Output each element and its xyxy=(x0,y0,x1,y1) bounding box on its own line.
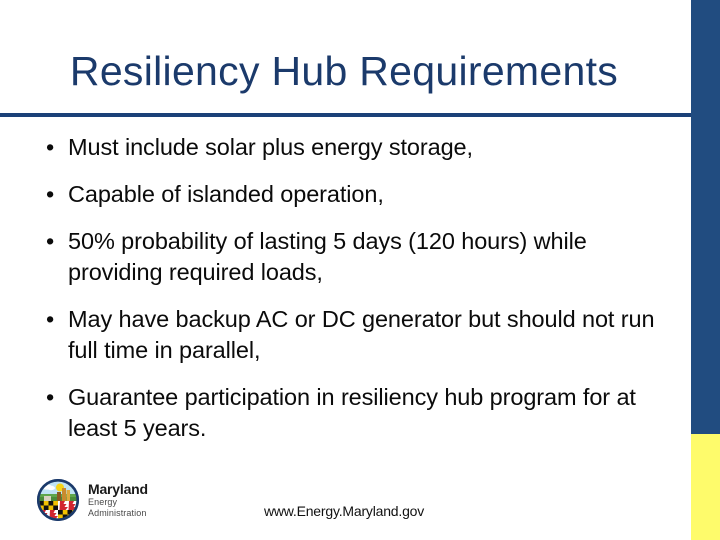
list-item: • May have backup AC or DC generator but… xyxy=(36,304,676,366)
slide-canvas: Resiliency Hub Requirements • Must inclu… xyxy=(0,0,720,540)
accent-bar-yellow xyxy=(691,434,720,540)
page-title: Resiliency Hub Requirements xyxy=(0,34,688,108)
list-item-text: 50% probability of lasting 5 days (120 h… xyxy=(68,226,676,288)
title-divider-rule xyxy=(0,113,691,117)
list-item: • Capable of islanded operation, xyxy=(36,179,676,210)
bullet-list: • Must include solar plus energy storage… xyxy=(36,132,676,460)
bullet-icon: • xyxy=(46,179,54,210)
list-item: • 50% probability of lasting 5 days (120… xyxy=(36,226,676,288)
bullet-icon: • xyxy=(46,382,54,413)
list-item: • Must include solar plus energy storage… xyxy=(36,132,676,163)
list-item-text: Capable of islanded operation, xyxy=(68,179,676,210)
bullet-icon: • xyxy=(46,226,54,257)
title-placeholder: Resiliency Hub Requirements xyxy=(0,34,688,108)
list-item: • Guarantee participation in resiliency … xyxy=(36,382,676,444)
accent-bar-blue xyxy=(691,0,720,434)
logo-name-maryland: Maryland xyxy=(88,482,148,496)
footer-website-url: www.Energy.Maryland.gov xyxy=(0,503,688,519)
list-item-text: May have backup AC or DC generator but s… xyxy=(68,304,676,366)
bullet-icon: • xyxy=(46,132,54,163)
bullet-icon: • xyxy=(46,304,54,335)
list-item-text: Must include solar plus energy storage, xyxy=(68,132,676,163)
list-item-text: Guarantee participation in resiliency hu… xyxy=(68,382,676,444)
